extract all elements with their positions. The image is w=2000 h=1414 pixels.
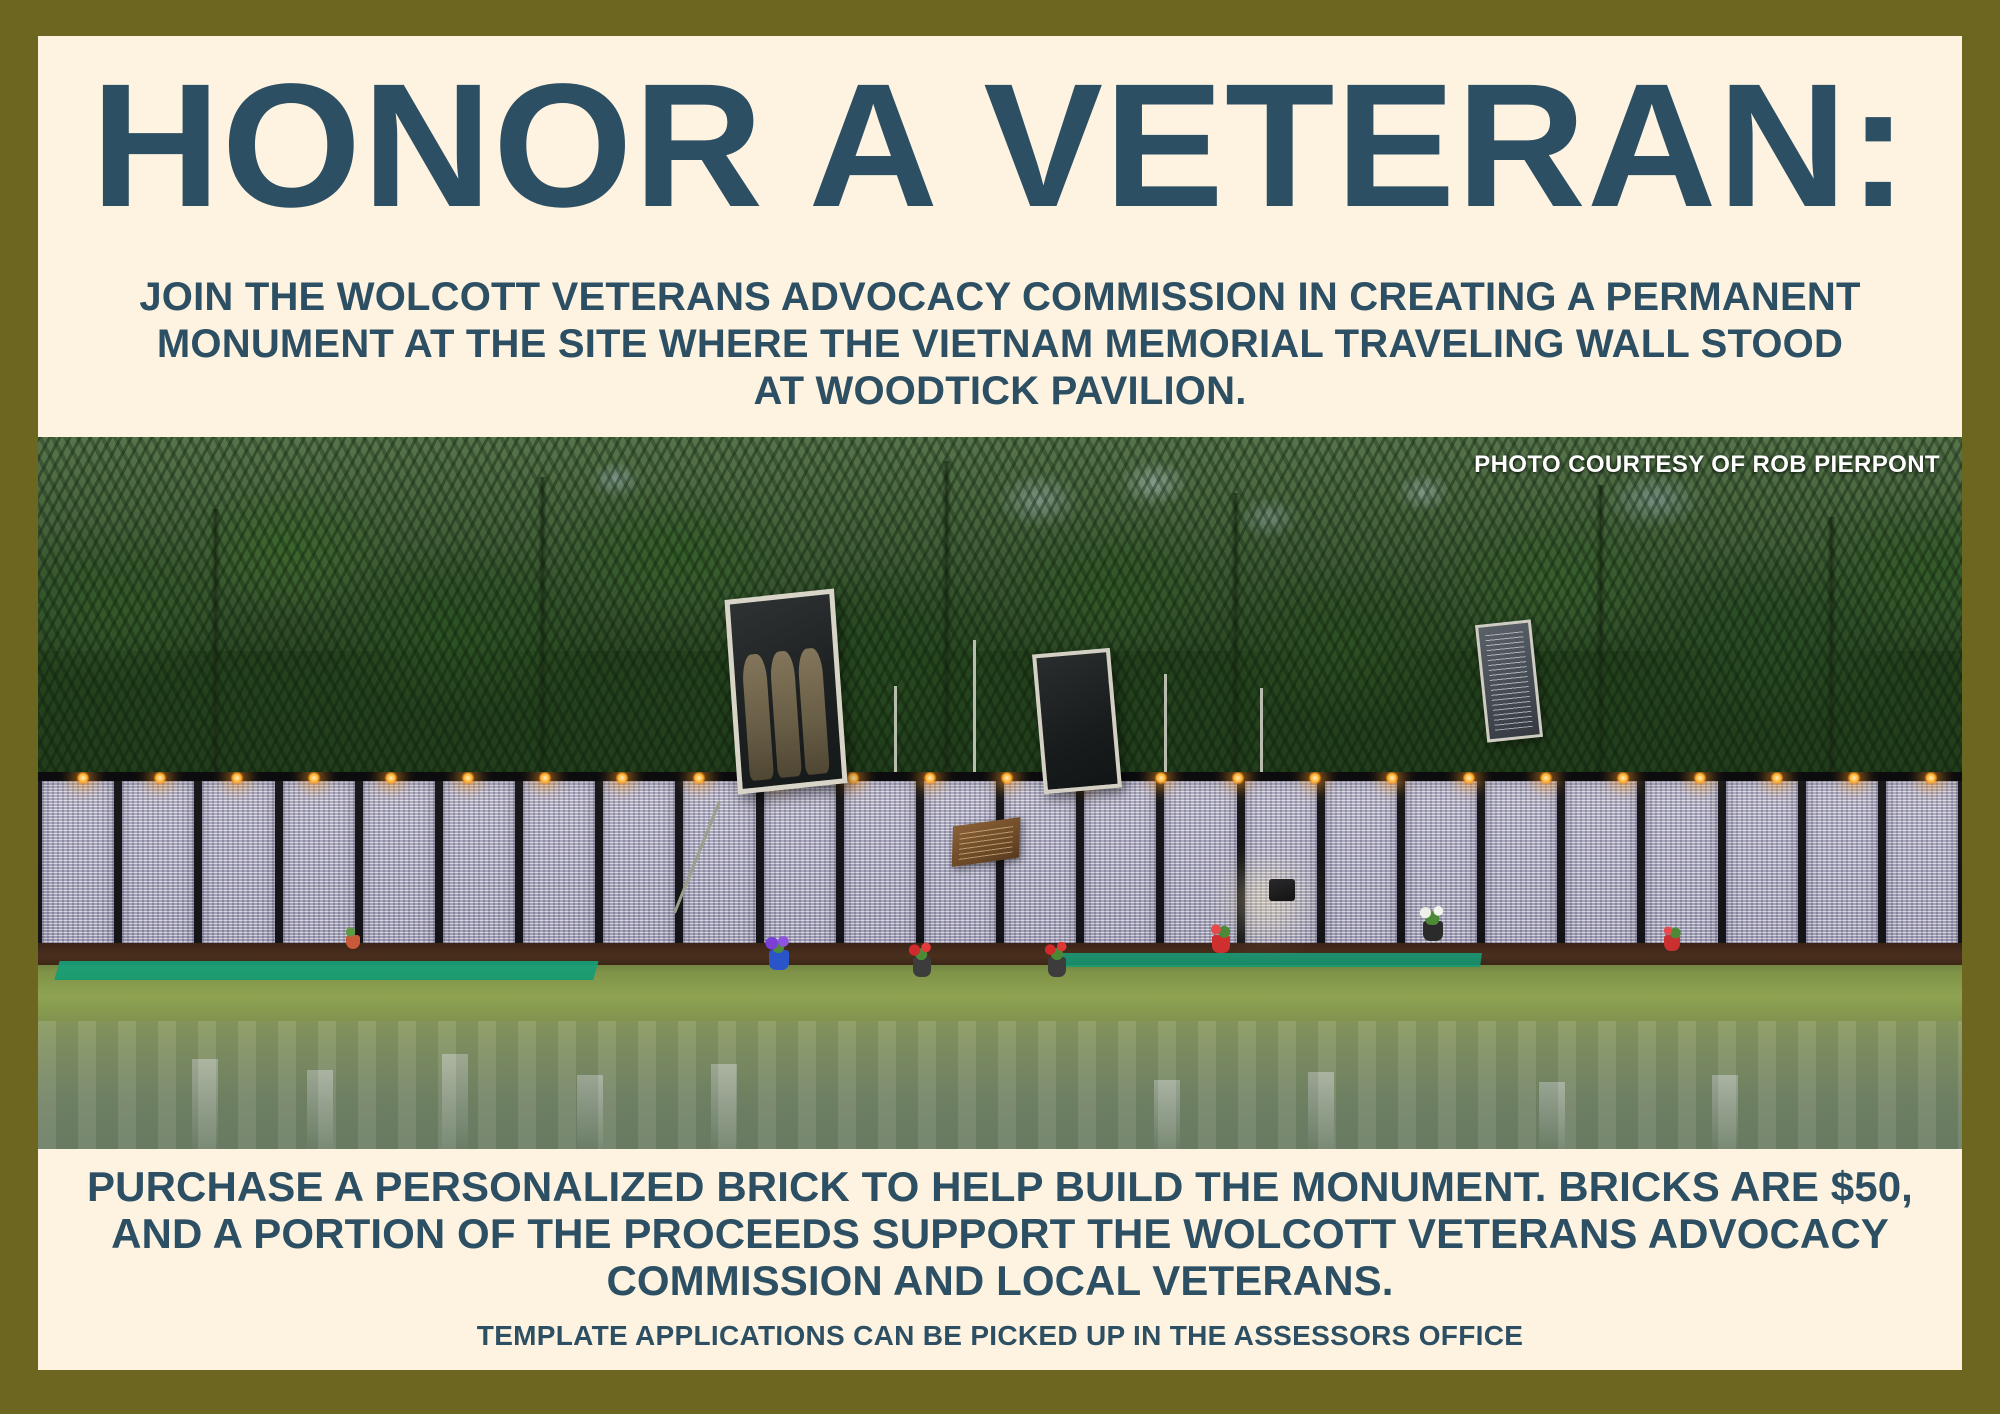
flower-planter (1423, 921, 1443, 941)
footer-note-text: TEMPLATE APPLICATIONS CAN BE PICKED UP I… (68, 1320, 1932, 1352)
wall-panel (1245, 781, 1317, 957)
header-block: HONOR A VETERAN: JOIN THE WOLCOTT VETERA… (38, 36, 1962, 437)
flower-planter (913, 957, 931, 977)
wall-panel (443, 781, 515, 957)
wall-light (1924, 772, 1938, 785)
wall-light (1308, 772, 1322, 785)
poster-root: HONOR A VETERAN: JOIN THE WOLCOTT VETERA… (0, 0, 2000, 1414)
wall-panel (1565, 781, 1637, 957)
wall-panel (523, 781, 595, 957)
wall-panel (1485, 781, 1557, 957)
three-soldiers-display (724, 588, 847, 794)
wall-panel (764, 781, 836, 957)
wall-light (1847, 772, 1861, 785)
lawn-ground (38, 943, 1962, 1149)
wall-panel (1726, 781, 1798, 957)
footer-main-text: PURCHASE A PERSONALIZED BRICK TO HELP BU… (68, 1163, 1932, 1304)
flower-planter (1664, 935, 1680, 951)
photo-credit: PHOTO COURTESY OF ROB PIERPONT (1474, 451, 1940, 479)
photo-scene (38, 437, 1962, 1148)
wall-light (1693, 772, 1707, 785)
wall-panel (1004, 781, 1076, 957)
wall-light (923, 772, 937, 785)
wall-panel (683, 781, 755, 957)
standing-water (38, 1021, 1962, 1149)
wall-light (1231, 772, 1245, 785)
memorial-photo: PHOTO COURTESY OF ROB PIERPONT (38, 437, 1962, 1148)
page-title: HONOR A VETERAN: (53, 66, 1946, 228)
wall-panel (122, 781, 194, 957)
wall-panel (42, 781, 114, 957)
footer-block: PURCHASE A PERSONALIZED BRICK TO HELP BU… (38, 1149, 1962, 1370)
flower-planter (769, 950, 789, 970)
green-walkway-mat (55, 961, 599, 980)
wall-panel (202, 781, 274, 957)
memorial-artwork-display (1033, 648, 1123, 794)
wall-panel (1325, 781, 1397, 957)
poster-panel: HONOR A VETERAN: JOIN THE WOLCOTT VETERA… (38, 36, 1962, 1370)
wall-panel (924, 781, 996, 957)
wall-light (1154, 772, 1168, 785)
wall-light (1385, 772, 1399, 785)
wall-light (1462, 772, 1476, 785)
flower-planter (1048, 957, 1066, 977)
wall-panel (363, 781, 435, 957)
green-walkway-mat (1057, 953, 1482, 967)
wall-panel (844, 781, 916, 957)
wall-light (1770, 772, 1784, 785)
wall-light (846, 772, 860, 785)
flower-planter (1212, 935, 1230, 953)
wall-panel (1886, 781, 1958, 957)
poster-subtitle: JOIN THE WOLCOTT VETERANS ADVOCACY COMMI… (72, 274, 1928, 416)
wall-panel (603, 781, 675, 957)
ground-spotlight (1269, 879, 1295, 901)
wall-panel (1806, 781, 1878, 957)
wall-light (1616, 772, 1630, 785)
wall-panel (1084, 781, 1156, 957)
wall-light (1000, 772, 1014, 785)
wall-light (1539, 772, 1553, 785)
